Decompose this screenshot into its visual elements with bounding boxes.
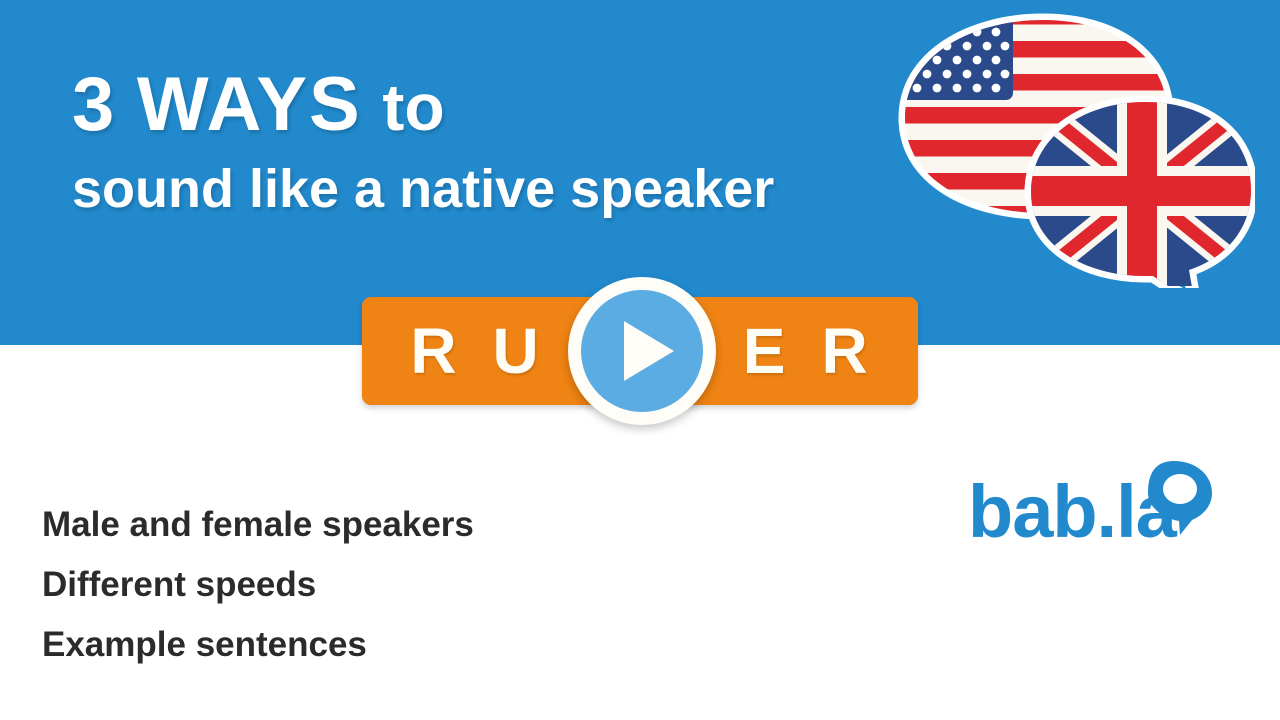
player-word-left: R U — [410, 314, 540, 388]
play-triangle-icon — [624, 321, 674, 381]
flag-bubbles-graphic — [895, 8, 1255, 288]
uk-flag-bubble — [1025, 96, 1255, 288]
player-letter: R — [821, 314, 869, 388]
headline-secondary: sound like a native speaker — [72, 158, 902, 220]
play-button-disc — [581, 290, 703, 412]
player-letter: E — [743, 314, 788, 388]
video-thumbnail-canvas: 3 WAYS to sound like a native speaker — [0, 0, 1280, 720]
player-letter: U — [493, 314, 541, 388]
player-word-right: E R — [743, 314, 870, 388]
play-button[interactable] — [568, 277, 716, 425]
headline-tail: to — [382, 70, 444, 144]
feature-item: Male and female speakers — [42, 495, 662, 555]
headline-block: 3 WAYS to sound like a native speaker — [72, 62, 902, 220]
babla-wordmark: bab.la — [968, 470, 1178, 553]
headline-number: 3 — [72, 62, 116, 147]
headline-primary: 3 WAYS to — [72, 62, 902, 150]
feature-list: Male and female speakers Different speed… — [42, 495, 662, 675]
babla-logo[interactable]: bab.la — [968, 455, 1218, 565]
feature-item: Example sentences — [42, 615, 662, 675]
headline-emphasis: WAYS — [137, 62, 362, 147]
feature-item: Different speeds — [42, 555, 662, 615]
player-letter: R — [410, 314, 458, 388]
